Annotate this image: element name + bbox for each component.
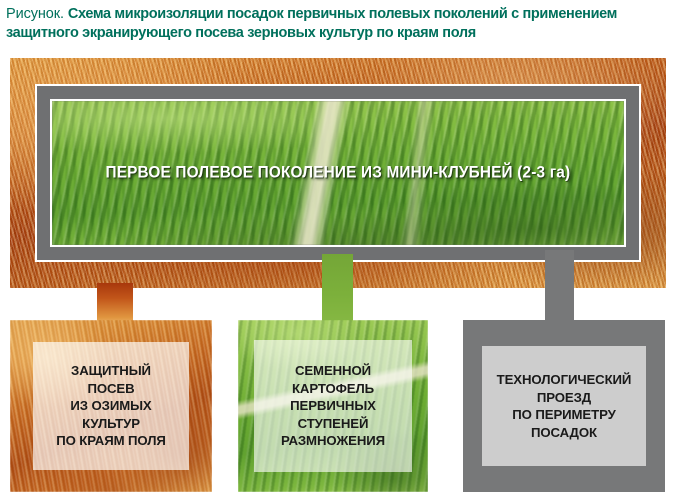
box-line: ПЕРВИЧНЫХ xyxy=(281,397,385,415)
box-seed-potato-panel: СЕМЕННОЙ КАРТОФЕЛЬ ПЕРВИЧНЫХ СТУПЕНЕЙ РА… xyxy=(254,340,412,472)
box-line: СЕМЕННОЙ xyxy=(281,362,385,380)
box-protective-sowing-panel: ЗАЩИТНЫЙ ПОСЕВ ИЗ ОЗИМЫХ КУЛЬТУР ПО КРАЯ… xyxy=(33,342,189,470)
banner-label: ПЕРВОЕ ПОЛЕВОЕ ПОКОЛЕНИЕ ИЗ МИНИ-КЛУБНЕЙ… xyxy=(52,164,624,183)
box-line: КУЛЬТУР xyxy=(56,415,166,433)
box-technological-passage-text: ТЕХНОЛОГИЧЕСКИЙ ПРОЕЗД ПО ПЕРИМЕТРУ ПОСА… xyxy=(497,371,632,441)
box-seed-potato: СЕМЕННОЙ КАРТОФЕЛЬ ПЕРВИЧНЫХ СТУПЕНЕЙ РА… xyxy=(238,320,428,492)
box-line: СТУПЕНЕЙ xyxy=(281,415,385,433)
box-protective-sowing: ЗАЩИТНЫЙ ПОСЕВ ИЗ ОЗИМЫХ КУЛЬТУР ПО КРАЯ… xyxy=(10,320,212,492)
box-seed-potato-text: СЕМЕННОЙ КАРТОФЕЛЬ ПЕРВИЧНЫХ СТУПЕНЕЙ РА… xyxy=(281,362,385,450)
banner-label-text: ПЕРВОЕ ПОЛЕВОЕ ПОКОЛЕНИЕ ИЗ МИНИ-КЛУБНЕЙ… xyxy=(106,164,571,183)
box-line: ТЕХНОЛОГИЧЕСКИЙ xyxy=(497,371,632,389)
box-technological-passage: ТЕХНОЛОГИЧЕСКИЙ ПРОЕЗД ПО ПЕРИМЕТРУ ПОСА… xyxy=(463,320,665,492)
potato-field-photo: ПЕРВОЕ ПОЛЕВОЕ ПОКОЛЕНИЕ ИЗ МИНИ-КЛУБНЕЙ… xyxy=(50,99,626,247)
connector-gray xyxy=(545,250,574,327)
figure-caption: Рисунок. Схема микроизоляции посадок пер… xyxy=(6,5,666,43)
box-technological-passage-panel: ТЕХНОЛОГИЧЕСКИЙ ПРОЕЗД ПО ПЕРИМЕТРУ ПОСА… xyxy=(482,346,646,466)
photo-frame-gray-band: ПЕРВОЕ ПОЛЕВОЕ ПОКОЛЕНИЕ ИЗ МИНИ-КЛУБНЕЙ… xyxy=(37,86,639,260)
box-protective-sowing-text: ЗАЩИТНЫЙ ПОСЕВ ИЗ ОЗИМЫХ КУЛЬТУР ПО КРАЯ… xyxy=(56,362,166,450)
box-line: ИЗ ОЗИМЫХ xyxy=(56,397,166,415)
connector-green xyxy=(322,254,353,327)
box-line: ЗАЩИТНЫЙ xyxy=(56,362,166,380)
box-line: РАЗМНОЖЕНИЯ xyxy=(281,432,385,450)
box-line: ПОСАДОК xyxy=(497,424,632,442)
box-line: ПРОЕЗД xyxy=(497,389,632,407)
caption-lead: Рисунок. xyxy=(6,6,64,22)
box-line: ПО КРАЯМ ПОЛЯ xyxy=(56,432,166,450)
box-line: ПОСЕВ xyxy=(56,380,166,398)
caption-text: Схема микроизоляции посадок первичных по… xyxy=(6,6,617,41)
box-line: КАРТОФЕЛЬ xyxy=(281,380,385,398)
photo-frame: ПЕРВОЕ ПОЛЕВОЕ ПОКОЛЕНИЕ ИЗ МИНИ-КЛУБНЕЙ… xyxy=(35,84,641,262)
box-line: ПО ПЕРИМЕТРУ xyxy=(497,406,632,424)
